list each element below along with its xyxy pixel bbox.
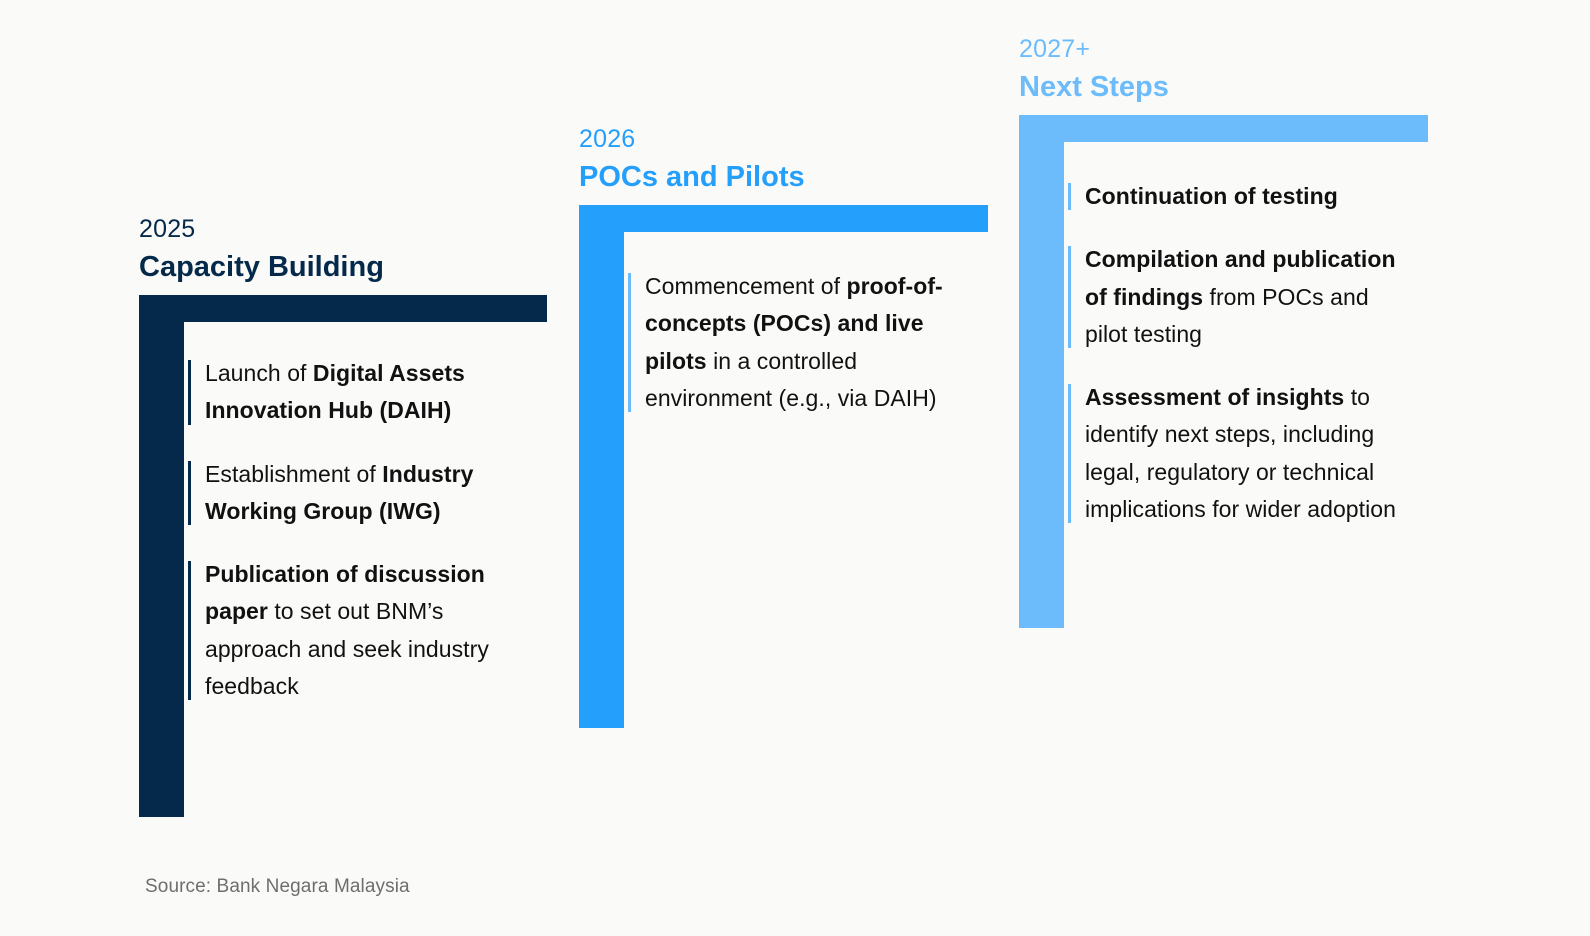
phase-year-label: 2026 (579, 125, 805, 154)
phase-header-2027-plus: 2027+ Next Steps (1019, 35, 1169, 105)
phase-title: POCs and Pilots (579, 160, 805, 195)
list-item: Continuation of testing (1068, 178, 1413, 215)
list-item: Establishment of Industry Working Group … (188, 456, 518, 531)
list-item: Publication of discussion paper to set o… (188, 556, 518, 705)
list-item: Launch of Digital Assets Innovation Hub … (188, 355, 518, 430)
phase-year-label: 2025 (139, 215, 384, 244)
bracket-vertical-stem (1019, 115, 1064, 628)
list-item-text: Publication of discussion paper to set o… (205, 561, 489, 699)
phase-year-label: 2027+ (1019, 35, 1169, 64)
phase-bullet-list-2025: Launch of Digital Assets Innovation Hub … (188, 355, 518, 705)
bracket-horizontal-arm (579, 205, 988, 232)
timeline-canvas: 2025 Capacity Building Launch of Digital… (0, 0, 1590, 936)
list-item-text: Launch of Digital Assets Innovation Hub … (205, 360, 465, 423)
bracket-vertical-stem (139, 295, 184, 817)
bracket-horizontal-arm (1019, 115, 1428, 142)
list-item: Assessment of insights to identify next … (1068, 379, 1413, 528)
bracket-vertical-stem (579, 205, 624, 728)
list-item-text: Continuation of testing (1085, 183, 1338, 209)
list-item-text: Compilation and publication of findings … (1085, 246, 1396, 347)
list-item-text: Establishment of Industry Working Group … (205, 461, 473, 524)
list-item: Compilation and publication of findings … (1068, 241, 1413, 353)
list-item: Commencement of proof-of-concepts (POCs)… (628, 268, 958, 417)
phase-header-2026: 2026 POCs and Pilots (579, 125, 805, 195)
phase-title: Capacity Building (139, 250, 384, 285)
list-item-text: Assessment of insights to identify next … (1085, 384, 1396, 522)
list-item-text: Commencement of proof-of-concepts (POCs)… (645, 273, 943, 411)
source-attribution: Source: Bank Negara Malaysia (145, 876, 410, 898)
phase-bullet-list-2026: Commencement of proof-of-concepts (POCs)… (628, 268, 958, 417)
phase-header-2025: 2025 Capacity Building (139, 215, 384, 285)
phase-title: Next Steps (1019, 70, 1169, 105)
phase-bullet-list-2027-plus: Continuation of testing Compilation and … (1068, 178, 1413, 528)
bracket-horizontal-arm (139, 295, 547, 322)
